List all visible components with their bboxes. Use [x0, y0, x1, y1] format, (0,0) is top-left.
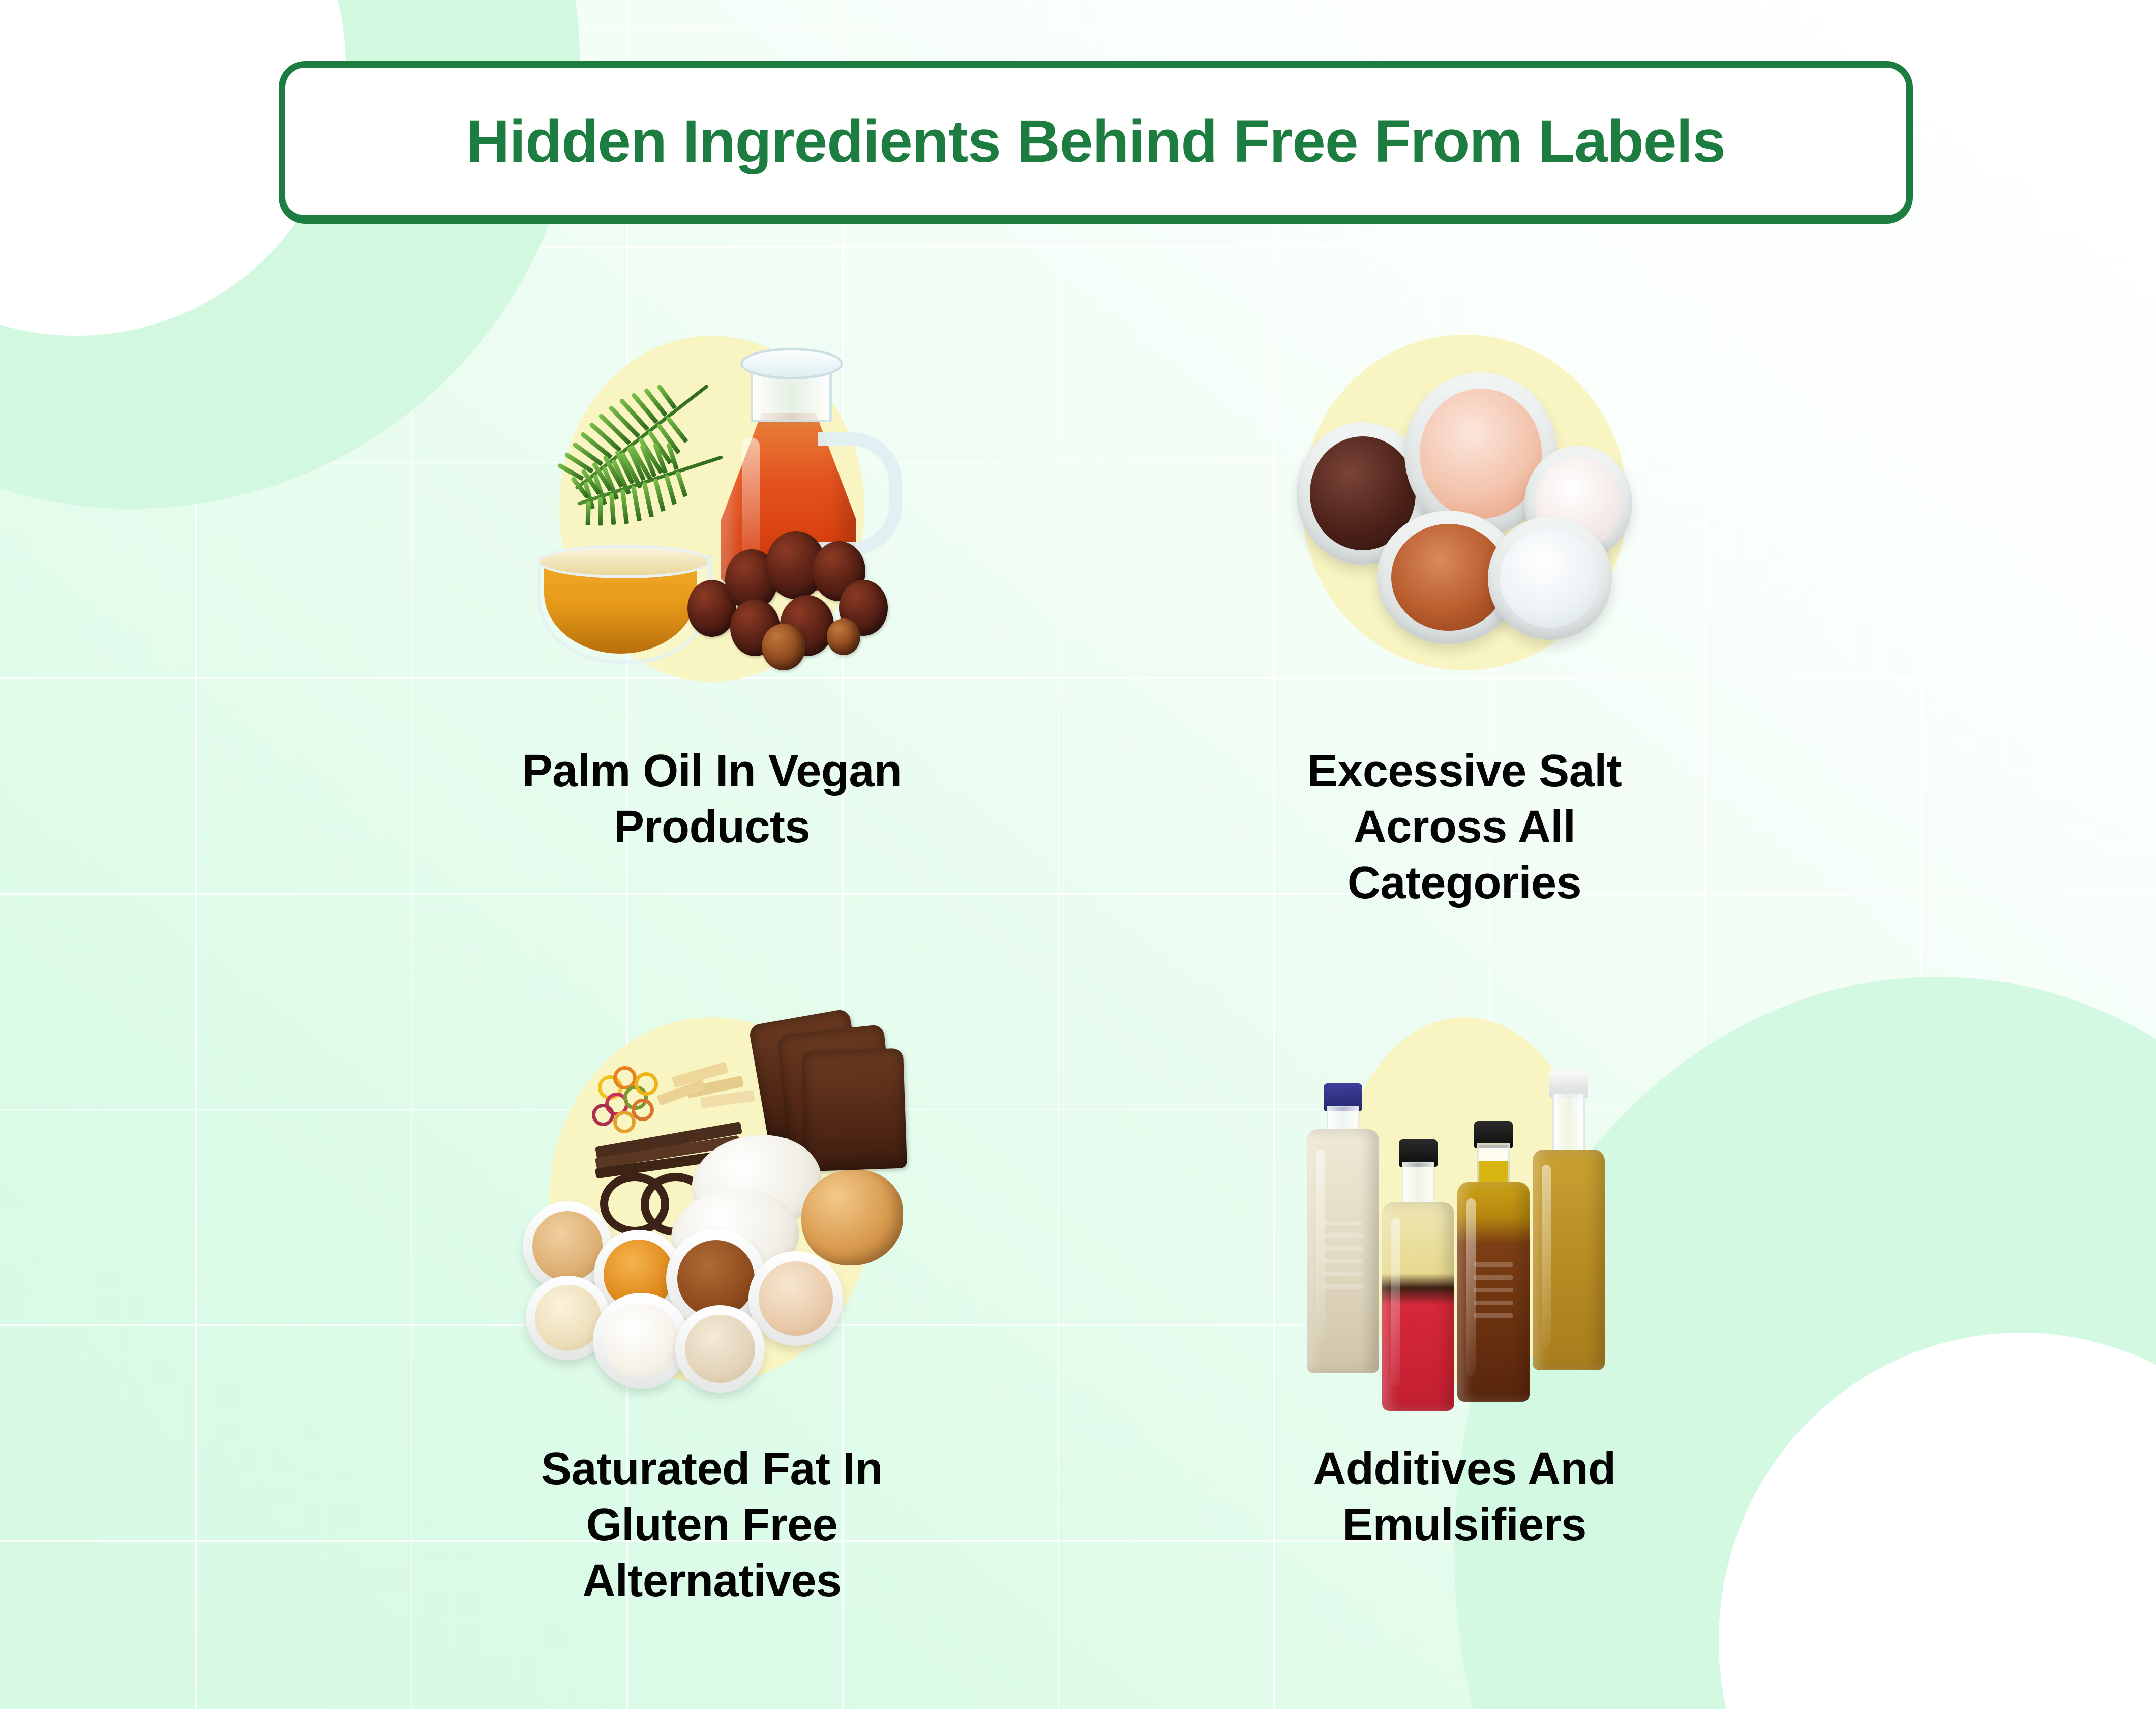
card-image-area-bottles [1225, 977, 1703, 1424]
card-excessive-salt[interactable]: Excessive Salt Across All Categories [1103, 285, 1825, 956]
salt-bowl-coarse-sea [1488, 517, 1612, 640]
card-additives[interactable]: Additives And Emulsifiers [1103, 977, 1825, 1648]
bottle-mustard-seed-dressing [1533, 1050, 1605, 1378]
palm-oil-photo [534, 346, 890, 671]
card-saturated-fat[interactable]: Saturated Fat In Gluten Free Alternative… [351, 977, 1073, 1648]
title-box: Hidden Ingredients Behind Free From Labe… [279, 61, 1913, 224]
title-banner: Hidden Ingredients Behind Free From Labe… [279, 61, 1913, 224]
gluten-free-foods-photo [519, 1012, 905, 1389]
card-image-area-gluten-free [473, 977, 951, 1424]
infographic-canvas: Hidden Ingredients Behind Free From Labe… [0, 0, 2156, 1709]
bowl-flour [748, 1251, 843, 1346]
card-label-additives: Additives And Emulsifiers [1246, 1441, 1683, 1553]
page-title: Hidden Ingredients Behind Free From Labe… [466, 111, 1725, 171]
bottle-red-vinaigrette [1382, 1091, 1454, 1378]
card-image-area-salt [1225, 285, 1703, 732]
bowl-rice [593, 1293, 690, 1389]
bottle-creamy-dressing [1307, 1053, 1379, 1378]
rye-bread-slice [801, 1048, 907, 1172]
card-grid: Palm Oil In Vegan Products Excessive Sal… [351, 285, 1825, 1648]
bread-roll [801, 1170, 903, 1265]
card-palm-oil[interactable]: Palm Oil In Vegan Products [351, 285, 1073, 956]
salad-dressing-bottles-photo [1307, 1022, 1622, 1378]
card-label-saturated-fat: Saturated Fat In Gluten Free Alternative… [493, 1441, 931, 1609]
card-image-area-palm-oil [473, 285, 951, 732]
bottle-brown-chunky-dressing [1457, 1081, 1530, 1378]
bowl-white-beans [675, 1305, 765, 1393]
palm-fruits-icon [676, 519, 890, 671]
card-label-excessive-salt: Excessive Salt Across All Categories [1246, 744, 1683, 911]
card-label-palm-oil: Palm Oil In Vegan Products [493, 744, 931, 856]
assorted-salts-photo [1292, 366, 1637, 651]
